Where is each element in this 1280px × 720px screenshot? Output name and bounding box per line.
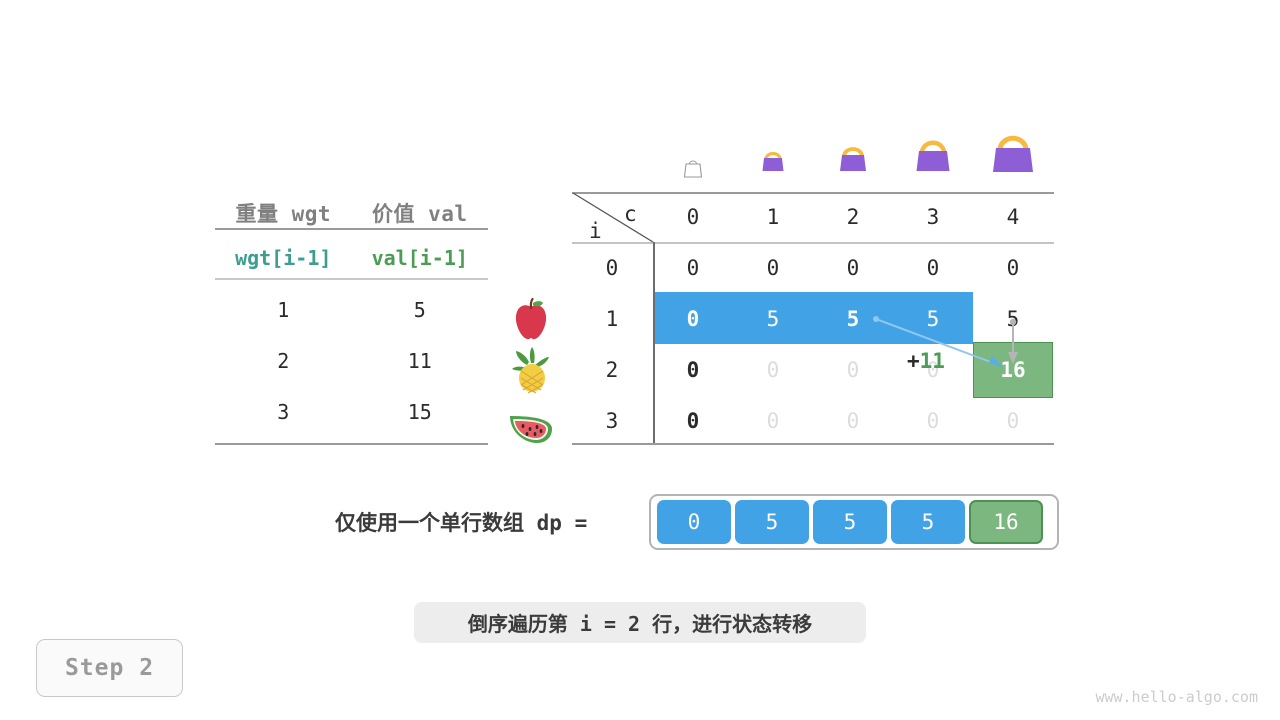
item-val-1: 5	[352, 298, 489, 322]
dp-matrix: c i 0 1 2 3 4 0 0 0 0 0 0 1 0 5 5 5 5 2 …	[572, 192, 1054, 444]
apple-icon	[505, 294, 557, 346]
caption-banner: 倒序遍历第 i = 2 行，进行状态转移	[414, 602, 866, 643]
table-row: 2 11	[215, 349, 488, 373]
matrix-cell-0-4: 0	[973, 243, 1053, 293]
matrix-row-header-2: 2	[572, 345, 652, 395]
dp-array-label: 仅使用一个单行数组 dp =	[335, 507, 587, 537]
watermelon-icon	[505, 396, 557, 448]
item-wgt-3: 3	[215, 400, 352, 424]
matrix-cell-2-4: 16	[973, 345, 1053, 395]
dp-array-cell-4: 16	[969, 500, 1043, 544]
matrix-cell-0-0: 0	[653, 243, 733, 293]
table-row: 1 5	[215, 298, 488, 322]
matrix-cell-3-2: 0	[813, 396, 893, 446]
item-table-rule-top	[215, 228, 488, 230]
item-table-subheader-row: wgt[i-1] val[i-1]	[215, 246, 488, 270]
matrix-cell-3-4: 0	[973, 396, 1053, 446]
annotation-plus-value: +11	[907, 349, 945, 373]
corner-label-i: i	[589, 219, 602, 243]
matrix-cell-1-0: 0	[653, 294, 733, 344]
item-table-rule-sub	[215, 278, 488, 280]
item-table-header-val: 价值 val	[352, 198, 489, 228]
dp-array-cell-0: 0	[657, 500, 731, 544]
matrix-cell-1-1: 5	[733, 294, 813, 344]
table-row: 3 15	[215, 400, 488, 424]
item-wgt-2: 2	[215, 349, 352, 373]
matrix-cell-2-0: 0	[653, 345, 733, 395]
dp-array: 0 5 5 5 16	[649, 494, 1059, 550]
dp-array-cell-2: 5	[813, 500, 887, 544]
annotation-sign: +	[907, 349, 920, 373]
item-table-rule-bottom	[215, 443, 488, 445]
matrix-cell-2-1: 0	[733, 345, 813, 395]
bag-4-icon	[986, 122, 1040, 180]
matrix-cell-0-1: 0	[733, 243, 813, 293]
step-badge: Step 2	[36, 639, 183, 697]
item-val-2: 11	[352, 349, 489, 373]
matrix-row-header-0: 0	[572, 243, 652, 293]
matrix-cell-1-4: 5	[973, 294, 1053, 344]
matrix-col-header-4: 4	[973, 192, 1053, 242]
corner-diagonal-icon	[572, 192, 654, 243]
item-table-header-wgt: 重量 wgt	[215, 198, 352, 228]
item-table-subheader-val: val[i-1]	[352, 246, 489, 270]
corner-label-c: c	[624, 202, 637, 226]
bag-1-icon	[757, 142, 789, 178]
matrix-cell-0-2: 0	[813, 243, 893, 293]
matrix-col-header-3: 3	[893, 192, 973, 242]
matrix-row-header-1: 1	[572, 294, 652, 344]
item-wgt-1: 1	[215, 298, 352, 322]
bag-3-icon	[910, 128, 956, 178]
bag-0-icon	[679, 152, 707, 184]
item-table-subheader-wgt: wgt[i-1]	[215, 246, 352, 270]
item-table: 重量 wgt 价值 val wgt[i-1] val[i-1] 1 5 2 11…	[215, 190, 488, 445]
bag-2-icon	[834, 136, 872, 178]
matrix-cell-3-3: 0	[893, 396, 973, 446]
matrix-row-header-3: 3	[572, 396, 652, 446]
matrix-cell-0-3: 0	[893, 243, 973, 293]
dp-array-cell-1: 5	[735, 500, 809, 544]
matrix-cell-3-0: 0	[653, 396, 733, 446]
matrix-cell-1-2: 5	[813, 294, 893, 344]
matrix-col-header-1: 1	[733, 192, 813, 242]
dp-array-cell-3: 5	[891, 500, 965, 544]
matrix-cell-1-3: 5	[893, 294, 973, 344]
item-val-3: 15	[352, 400, 489, 424]
annotation-number: 11	[920, 349, 945, 373]
item-table-header-row: 重量 wgt 价值 val	[215, 198, 488, 228]
pineapple-icon	[505, 345, 557, 397]
matrix-col-header-2: 2	[813, 192, 893, 242]
matrix-col-header-0: 0	[653, 192, 733, 242]
matrix-cell-3-1: 0	[733, 396, 813, 446]
watermark: www.hello-algo.com	[1095, 688, 1258, 706]
matrix-cell-2-2: 0	[813, 345, 893, 395]
